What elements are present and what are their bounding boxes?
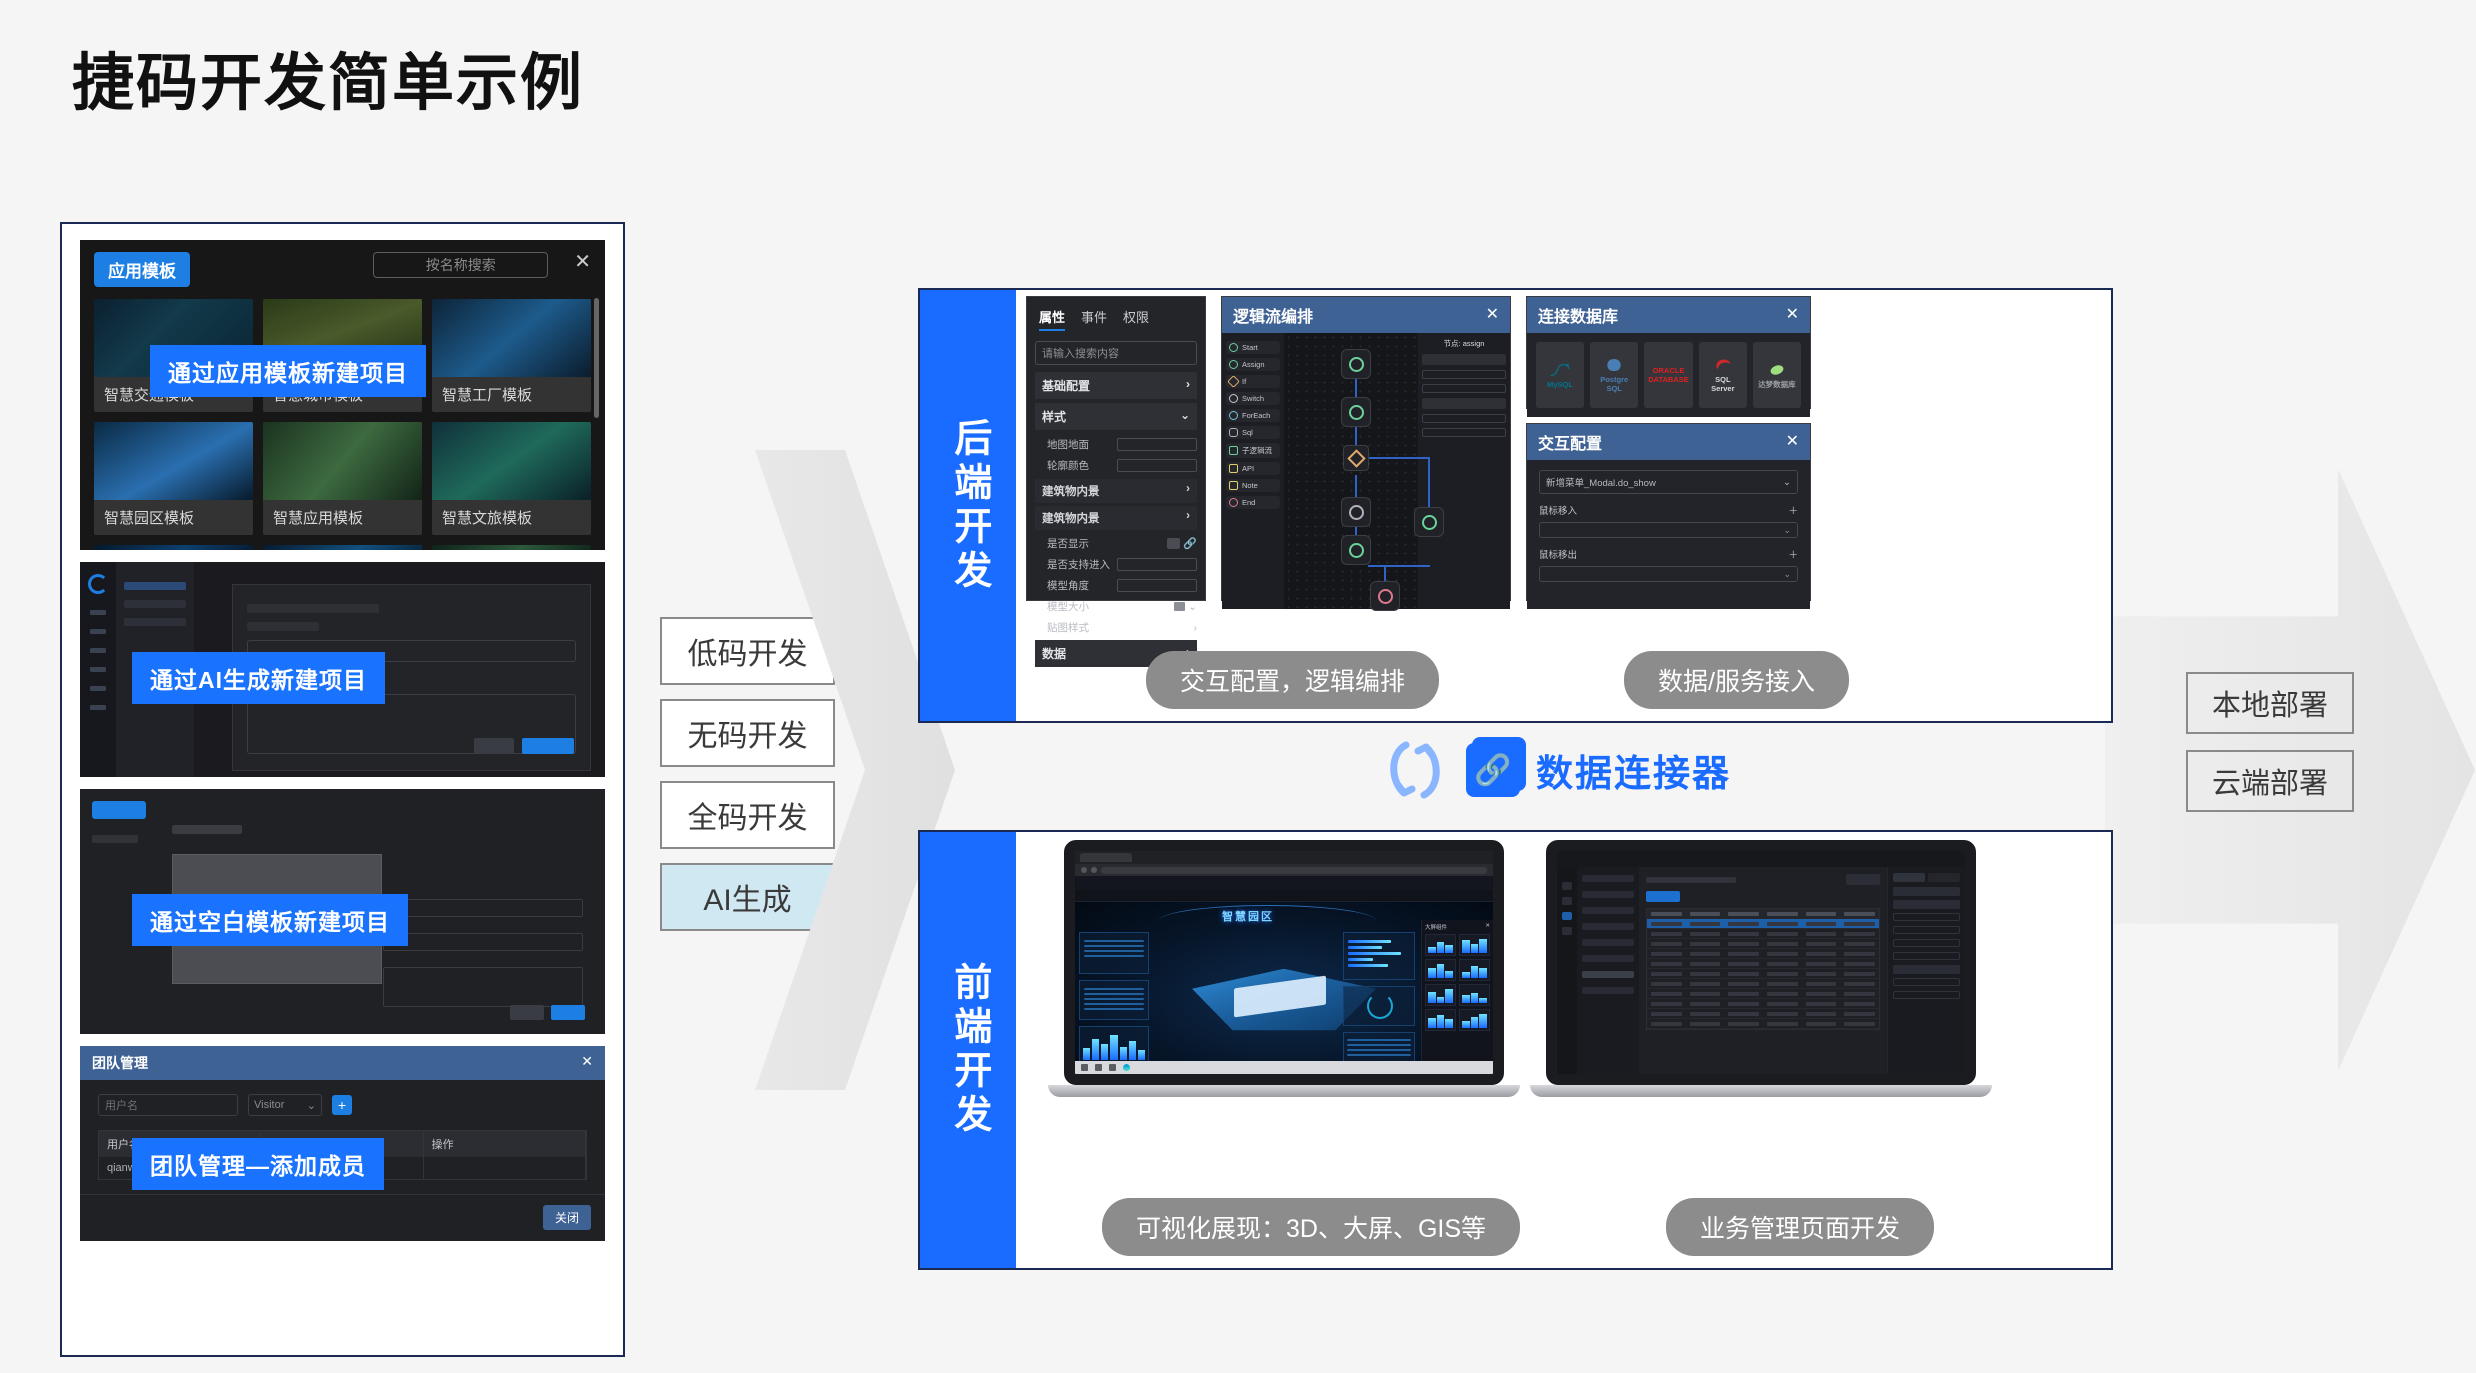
admin-topbar xyxy=(1557,851,1965,867)
laptop-base xyxy=(1048,1085,1520,1097)
backend-stage-label: 后端开发 xyxy=(920,290,1016,721)
prop-value[interactable] xyxy=(1117,438,1197,451)
inspector-section-props[interactable] xyxy=(1422,398,1506,409)
event-mouseenter-select[interactable]: ⌄ xyxy=(1539,522,1798,538)
flow-node-assign-2[interactable] xyxy=(1341,535,1371,565)
component-library-panel: 大屏组件✕ xyxy=(1421,920,1493,1061)
plus-icon[interactable]: ＋ xyxy=(1788,503,1798,517)
tab-properties[interactable]: 属性 xyxy=(1039,307,1065,331)
component-item xyxy=(1425,1009,1456,1031)
inspector-section-node[interactable] xyxy=(1422,354,1506,365)
windows-taskbar[interactable] xyxy=(1075,1061,1493,1074)
tag-ai-project: 通过AI生成新建项目 xyxy=(132,652,385,704)
sub-label: 建筑物内景 xyxy=(1042,483,1100,499)
dashboard-chart xyxy=(1079,1026,1149,1061)
admin-panel-section xyxy=(1893,900,1960,909)
section-label: 基础配置 xyxy=(1042,377,1090,394)
admin-panel-field[interactable] xyxy=(1893,952,1960,960)
component-grid[interactable] xyxy=(1425,934,1490,1031)
blank-dialog-buttons[interactable] xyxy=(510,1005,585,1020)
role-select-value: Visitor xyxy=(254,1099,284,1111)
admin-panel-field[interactable] xyxy=(1893,939,1960,947)
template-card[interactable]: 智慧园区模板 xyxy=(94,422,253,535)
foreach-icon xyxy=(1229,411,1238,420)
left-screenshots-panel: 通过应用模板新建项目 应用模板 按名称搜索 ✕ 智慧交通模板 智慧城市模板 智慧… xyxy=(60,222,625,1357)
db-option-dameng[interactable]: 达梦数据库 xyxy=(1753,342,1801,408)
admin-panel-field[interactable] xyxy=(1893,991,1960,999)
admin-breadcrumb xyxy=(1646,874,1880,885)
prop-label: 贴图样式 xyxy=(1047,620,1089,635)
deployment-options: 本地部署 云端部署 xyxy=(2186,672,2354,828)
table-header-row xyxy=(1647,909,1879,919)
logic-flow-title: 逻辑流编排 xyxy=(1233,303,1313,327)
palette-node-start[interactable]: Start xyxy=(1226,341,1280,354)
chevron-down-icon: ⌄ xyxy=(1783,525,1791,536)
team-dialog-title: 团队管理 xyxy=(92,1053,148,1073)
method-full-code[interactable]: 全码开发 xyxy=(660,781,835,849)
new-app-chip[interactable] xyxy=(92,801,146,819)
event-mouseleave-select[interactable]: ⌄ xyxy=(1539,566,1798,582)
tag-team-management: 团队管理—添加成员 xyxy=(132,1138,384,1190)
close-button[interactable]: 关闭 xyxy=(543,1205,591,1230)
sql-icon xyxy=(1229,428,1238,437)
frontend-stage-label: 前端开发 xyxy=(920,832,1016,1268)
template-card-grid: 智慧交通模板 智慧城市模板 智慧工厂模板 智慧园区模板 智慧应用模板 智慧文旅模… xyxy=(94,299,591,550)
table-row xyxy=(1647,929,1879,939)
component-item xyxy=(1425,959,1456,981)
db-label-postgres: Postgre SQL xyxy=(1594,375,1634,393)
prop-model-size[interactable]: 模型大小 ⌄ xyxy=(1035,596,1197,617)
prop-value[interactable] xyxy=(1117,558,1197,571)
table-row xyxy=(1647,989,1879,999)
team-dialog-footer: 关闭 xyxy=(80,1194,605,1240)
interaction-title: 交互配置 xyxy=(1538,430,1602,454)
add-record-button[interactable] xyxy=(1646,891,1680,902)
db-label-sqlserver: SQL Server xyxy=(1703,375,1743,393)
component-item xyxy=(1425,934,1456,956)
blank-dialog-nav xyxy=(92,835,154,853)
admin-panel-field[interactable] xyxy=(1893,978,1960,986)
flow-node-assign-1[interactable] xyxy=(1341,397,1371,427)
smart-park-dashboard: 智慧园区 大屏组件✕ xyxy=(1075,902,1493,1061)
database-window: 连接数据库 ✕ MySQL Postgre SQL ORACLE DATABAS… xyxy=(1526,296,1811,409)
component-item xyxy=(1459,1009,1490,1031)
prop-is-visible[interactable]: 是否显示 🔗 xyxy=(1035,533,1197,554)
property-tabs[interactable]: 属性 事件 权限 xyxy=(1035,305,1197,336)
postgres-icon xyxy=(1603,357,1625,373)
db-option-postgres[interactable]: Postgre SQL xyxy=(1590,342,1638,408)
data-connector: 🔗 数据连接器 xyxy=(1380,735,1731,805)
component-panel-title: 大屏组件 xyxy=(1425,923,1447,931)
dashboard-panel xyxy=(1343,1032,1415,1061)
close-icon[interactable]: ✕ xyxy=(574,252,591,272)
template-card[interactable] xyxy=(263,545,422,550)
chevron-right-icon: › xyxy=(1186,483,1190,499)
prop-label: 模型大小 xyxy=(1047,599,1089,614)
inspector-field-var[interactable] xyxy=(1422,414,1506,423)
flow-node-sql[interactable] xyxy=(1341,497,1371,527)
palette-node-switch[interactable]: Switch xyxy=(1226,392,1280,405)
flow-node-start[interactable] xyxy=(1341,349,1371,379)
admin-side-menu[interactable] xyxy=(1577,867,1639,1074)
plus-icon[interactable]: ＋ xyxy=(1788,547,1798,561)
switch-icon xyxy=(1229,394,1238,403)
dashboard-panel xyxy=(1079,980,1149,1020)
browser-tabs[interactable] xyxy=(1075,851,1493,864)
table-row xyxy=(1647,959,1879,969)
table-row xyxy=(1647,969,1879,979)
admin-icon-rail[interactable] xyxy=(1557,867,1577,1074)
interaction-action-select[interactable]: 新增菜单_Modal.do_show ⌄ xyxy=(1539,470,1798,494)
method-low-code[interactable]: 低码开发 xyxy=(660,617,835,685)
api-icon xyxy=(1229,464,1238,473)
template-card-label: 智慧工厂模板 xyxy=(432,377,591,412)
palette-node-sql[interactable]: Sql xyxy=(1226,426,1280,439)
db-option-sqlserver[interactable]: SQL Server xyxy=(1699,342,1747,408)
db-label-dameng: 达梦数据库 xyxy=(1758,380,1796,389)
table-row xyxy=(1647,1009,1879,1019)
laptop-dashboard-screenshot: 智慧园区 大屏组件✕ xyxy=(1064,840,1504,1097)
admin-panel-section xyxy=(1893,965,1960,974)
chevron-right-icon: › xyxy=(1186,510,1190,526)
database-title: 连接数据库 xyxy=(1538,303,1618,327)
inspector-field-value[interactable] xyxy=(1422,428,1506,437)
db-option-mysql[interactable]: MySQL xyxy=(1536,342,1584,408)
logic-node-inspector: 节点: assign xyxy=(1418,333,1510,609)
sub-building-interior-2[interactable]: 建筑物内景› xyxy=(1035,506,1197,530)
end-icon xyxy=(1229,498,1238,507)
prop-label: 地图地面 xyxy=(1047,437,1089,452)
interaction-action-value: 新增菜单_Modal.do_show xyxy=(1546,475,1656,489)
deploy-cloud[interactable]: 云端部署 xyxy=(2186,750,2354,812)
property-panel: 属性 事件 权限 请输入搜索内容 基础配置 › 样式 ⌄ 地图地面 轮廓颜色 建… xyxy=(1026,296,1206,601)
palette-node-api[interactable]: API xyxy=(1226,462,1280,475)
chevron-down-icon: ⌄ xyxy=(1188,601,1197,613)
admin-property-panel xyxy=(1887,867,1965,1074)
laptop-admin-screenshot xyxy=(1546,840,1976,1097)
template-gallery-screenshot: 通过应用模板新建项目 应用模板 按名称搜索 ✕ 智慧交通模板 智慧城市模板 智慧… xyxy=(80,240,605,550)
gallery-scrollbar[interactable] xyxy=(594,298,599,418)
table-row xyxy=(1647,999,1879,1009)
logic-node-palette: Start Assign If Switch ForEach Sql 子逻辑流 … xyxy=(1222,333,1284,609)
chevron-down-icon: ⌄ xyxy=(1783,477,1791,488)
data-connector-label: 数据连接器 xyxy=(1536,743,1731,797)
method-ai-generate[interactable]: AI生成 xyxy=(660,863,835,931)
if-icon xyxy=(1227,375,1240,388)
development-method-list: 低码开发 无码开发 全码开发 AI生成 xyxy=(660,617,835,945)
admin-panel-section xyxy=(1893,887,1960,896)
template-card[interactable]: 智慧文旅模板 xyxy=(432,422,591,535)
add-member-button[interactable]: + xyxy=(332,1095,352,1115)
logic-flow-header: 逻辑流编排 ✕ xyxy=(1222,297,1510,333)
dashboard-title: 智慧园区 xyxy=(1075,908,1421,924)
pill-data-service: 数据/服务接入 xyxy=(1624,651,1849,709)
sub-building-interior-1[interactable]: 建筑物内景› xyxy=(1035,479,1197,503)
close-icon[interactable]: ✕ xyxy=(1786,434,1799,450)
ai-project-screenshot: 通过AI生成新建项目 xyxy=(80,562,605,777)
pill-visualization: 可视化展现：3D、大屏、GIS等 xyxy=(1102,1198,1520,1256)
palette-node-assign[interactable]: Assign xyxy=(1226,358,1280,371)
dashboard-panel xyxy=(1079,932,1149,974)
prop-model-angle[interactable]: 模型角度 xyxy=(1035,575,1197,596)
flow-node-end[interactable] xyxy=(1370,581,1400,611)
admin-panel-field[interactable] xyxy=(1893,926,1960,934)
admin-content xyxy=(1639,867,1887,1074)
browser-address-bar[interactable] xyxy=(1075,864,1493,876)
prop-label: 轮廓颜色 xyxy=(1047,458,1089,473)
edge-browser-icon xyxy=(1123,1064,1130,1071)
interaction-config-window: 交互配置 ✕ 新增菜单_Modal.do_show ⌄ 鼠标移入＋ ⌄ 鼠标移出… xyxy=(1526,423,1811,601)
db-option-oracle[interactable]: ORACLE DATABASE xyxy=(1644,342,1693,408)
tag-blank-project: 通过空白模板新建项目 xyxy=(132,894,408,946)
dashboard-gauge-panel xyxy=(1343,986,1415,1026)
event-label-mouseenter: 鼠标移入＋ xyxy=(1539,503,1798,517)
frontend-stage-body: 智慧园区 大屏组件✕ xyxy=(1016,832,2111,1268)
deploy-local[interactable]: 本地部署 xyxy=(2186,672,2354,734)
event-label-mouseleave: 鼠标移出＋ xyxy=(1539,547,1798,561)
prop-label: 是否显示 xyxy=(1047,536,1089,551)
tag-template-project: 通过应用模板新建项目 xyxy=(150,345,426,397)
flow-node-assign-3[interactable] xyxy=(1414,507,1444,537)
tab-events[interactable]: 事件 xyxy=(1081,307,1107,331)
template-card[interactable] xyxy=(94,545,253,550)
start-icon xyxy=(1229,343,1238,352)
admin-panel-field[interactable] xyxy=(1893,913,1960,921)
prop-allow-enter[interactable]: 是否支持进入 xyxy=(1035,554,1197,575)
template-card-label: 智慧园区模板 xyxy=(94,500,253,535)
backend-development-block: 后端开发 属性 事件 权限 请输入搜索内容 基础配置 › 样式 ⌄ 地图地面 轮… xyxy=(918,288,2113,723)
property-search-input[interactable]: 请输入搜索内容 xyxy=(1035,341,1197,365)
prop-value[interactable] xyxy=(1117,579,1197,592)
prop-outline-color[interactable]: 轮廓颜色 xyxy=(1035,455,1197,476)
inspector-field-name[interactable] xyxy=(1422,370,1506,379)
template-card[interactable] xyxy=(432,545,591,550)
frontend-development-block: 前端开发 智慧园区 xyxy=(918,830,2113,1270)
table-row xyxy=(1647,979,1879,989)
admin-data-table xyxy=(1646,908,1880,1030)
close-icon[interactable]: ✕ xyxy=(581,1053,593,1073)
component-panel-header: 大屏组件✕ xyxy=(1425,923,1490,931)
sub-label: 建筑物内景 xyxy=(1042,510,1100,526)
template-card[interactable]: 智慧应用模板 xyxy=(263,422,422,535)
inspector-field-display[interactable] xyxy=(1422,384,1506,393)
logic-flow-window: 逻辑流编排 ✕ Start Assign If Switch ForEach S… xyxy=(1221,296,1511,601)
app-toolbar xyxy=(1075,890,1493,902)
chevron-down-icon: ⌄ xyxy=(1783,569,1791,580)
close-icon[interactable]: ✕ xyxy=(1486,307,1499,323)
palette-node-if[interactable]: If xyxy=(1226,375,1280,388)
close-icon[interactable]: ✕ xyxy=(1485,923,1490,931)
link-icon: 🔗 xyxy=(1466,743,1520,797)
component-item xyxy=(1459,959,1490,981)
prop-texture-style[interactable]: 贴图样式› xyxy=(1035,617,1197,638)
table-row xyxy=(1647,949,1879,959)
cell-actions xyxy=(424,1157,586,1179)
logic-flow-canvas[interactable] xyxy=(1284,333,1418,609)
team-dialog-header: 团队管理 ✕ xyxy=(80,1046,605,1080)
database-header: 连接数据库 ✕ xyxy=(1527,297,1810,333)
sync-arrows-icon xyxy=(1380,735,1450,805)
pill-business-pages: 业务管理页面开发 xyxy=(1666,1198,1934,1256)
laptop-base xyxy=(1530,1085,1992,1097)
palette-node-subflow[interactable]: 子逻辑流 xyxy=(1226,443,1280,458)
team-management-screenshot: 团队管理—添加成员 团队管理 ✕ 用户名 Visitor ⌄ + 用户名 角色 … xyxy=(80,1046,605,1241)
page-title: 捷码开发简单示例 xyxy=(72,32,584,122)
method-no-code[interactable]: 无码开发 xyxy=(660,699,835,767)
chevron-down-icon: ⌄ xyxy=(1180,408,1190,425)
admin-action-button[interactable] xyxy=(1846,874,1880,885)
chevron-down-icon: ⌄ xyxy=(307,1099,316,1112)
sqlserver-icon xyxy=(1712,357,1734,373)
template-card[interactable]: 智慧工厂模板 xyxy=(432,299,591,412)
dashboard-panel xyxy=(1343,932,1415,980)
mysql-icon xyxy=(1549,362,1571,378)
frontend-pill-row: 可视化展现：3D、大屏、GIS等 业务管理页面开发 xyxy=(1016,1198,2111,1256)
palette-node-note[interactable]: Note xyxy=(1226,479,1280,492)
template-card-label: 智慧文旅模板 xyxy=(432,500,591,535)
db-label-oracle: ORACLE DATABASE xyxy=(1648,366,1689,384)
link-icon[interactable]: 🔗 xyxy=(1183,537,1197,550)
column-header: 操作 xyxy=(424,1131,586,1157)
template-chip[interactable]: 应用模板 xyxy=(94,252,190,287)
prop-map-ground[interactable]: 地图地面 xyxy=(1035,434,1197,455)
note-icon xyxy=(1229,481,1238,490)
template-search-input[interactable]: 按名称搜索 xyxy=(373,252,548,278)
ai-dialog-buttons[interactable] xyxy=(474,738,574,754)
close-icon[interactable]: ✕ xyxy=(1786,307,1799,323)
prop-label: 模型角度 xyxy=(1047,578,1089,593)
dameng-icon xyxy=(1766,362,1788,378)
prop-label: 是否支持进入 xyxy=(1047,557,1110,572)
db-label-mysql: MySQL xyxy=(1547,380,1573,389)
interaction-header: 交互配置 ✕ xyxy=(1527,424,1810,460)
app-breadcrumb-bar xyxy=(1075,876,1493,890)
section-style[interactable]: 样式 ⌄ xyxy=(1035,403,1197,430)
table-row xyxy=(1647,939,1879,949)
section-basic-config[interactable]: 基础配置 › xyxy=(1035,372,1197,399)
role-select[interactable]: Visitor ⌄ xyxy=(248,1094,322,1116)
backend-stage-body: 属性 事件 权限 请输入搜索内容 基础配置 › 样式 ⌄ 地图地面 轮廓颜色 建… xyxy=(1016,290,2111,721)
admin-panel-tabs[interactable] xyxy=(1893,873,1960,882)
prop-value[interactable] xyxy=(1117,459,1197,472)
assign-icon xyxy=(1229,360,1238,369)
app-logo-icon xyxy=(88,574,108,594)
backend-pill-row: 交互配置，逻辑编排 数据/服务接入 xyxy=(1016,651,2111,709)
subflow-icon xyxy=(1229,446,1238,455)
component-item xyxy=(1425,984,1456,1006)
tab-permissions[interactable]: 权限 xyxy=(1123,307,1149,331)
username-input[interactable]: 用户名 xyxy=(98,1094,238,1116)
blank-project-screenshot: 通过空白模板新建项目 xyxy=(80,789,605,1034)
table-row xyxy=(1647,919,1879,929)
chevron-right-icon: › xyxy=(1186,377,1190,394)
template-card-label: 智慧应用模板 xyxy=(263,500,422,535)
section-label: 样式 xyxy=(1042,408,1066,425)
app-left-rail xyxy=(80,562,116,777)
component-item xyxy=(1459,934,1490,956)
table-row xyxy=(1647,1019,1879,1029)
palette-node-end[interactable]: End xyxy=(1226,496,1280,509)
pill-interaction-logic: 交互配置，逻辑编排 xyxy=(1146,651,1439,709)
component-item xyxy=(1459,984,1490,1006)
chevron-right-icon: › xyxy=(1194,622,1198,634)
flow-node-if[interactable] xyxy=(1343,445,1369,471)
inspector-title: 节点: assign xyxy=(1422,338,1506,349)
palette-node-foreach[interactable]: ForEach xyxy=(1226,409,1280,422)
